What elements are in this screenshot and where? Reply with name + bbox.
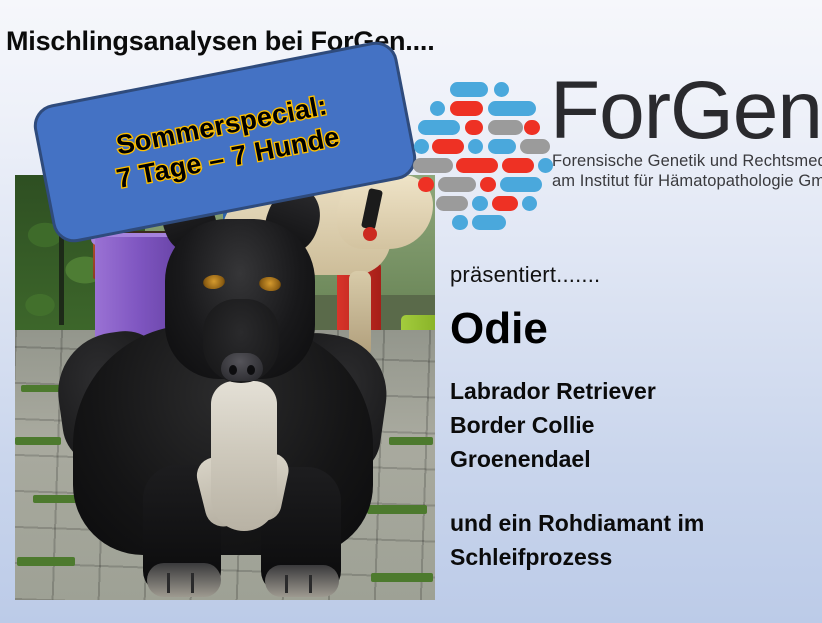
photo-grass [371, 573, 433, 582]
logo-pill-red [465, 120, 483, 135]
tagline-line-1: und ein Rohdiamant im [450, 506, 822, 540]
photo-background-dog-tag [363, 227, 377, 241]
photo-dog-nostril [229, 365, 237, 375]
photo-grass [367, 505, 427, 514]
logo-pill-blue [414, 139, 429, 154]
logo-pill-blue [500, 177, 542, 192]
logo-pill-red [450, 101, 483, 116]
logo-pill-red [480, 177, 496, 192]
logo-pill-blue [488, 101, 536, 116]
logo-pill-red [502, 158, 534, 173]
dog-name-heading: Odie [450, 306, 822, 352]
photo-dog-paw [147, 563, 221, 597]
logo-subtitle-line-1: Forensische Genetik und Rechtsmedizin [552, 152, 822, 171]
photo-dog-nostril [247, 365, 255, 375]
forgen-wordmark: ForGen [550, 70, 822, 152]
logo-pill-blue [522, 196, 537, 211]
photo-dog-chest-blaze [211, 381, 277, 531]
logo-pill-blue [418, 120, 460, 135]
breed-item: Labrador Retriever [450, 374, 822, 408]
breed-list: Labrador Retriever Border Collie Groenen… [450, 374, 822, 476]
logo-pill-blue [472, 196, 488, 211]
tagline-line-2: Schleifprozess [450, 540, 822, 574]
photo-dog-nose [221, 353, 263, 381]
logo-pill-red [418, 177, 434, 192]
photo-grass [389, 437, 433, 445]
logo-pill-red [432, 139, 464, 154]
logo-pill-blue [494, 82, 509, 97]
dna-gel-pattern-icon [410, 80, 542, 206]
logo-pill-blue [452, 215, 468, 230]
photo-grass [17, 557, 75, 566]
logo-pill-blue [430, 101, 445, 116]
logo-pill-red [524, 120, 540, 135]
logo-pill-gray [438, 177, 476, 192]
logo-pill-red [492, 196, 518, 211]
logo-pill-gray [436, 196, 468, 211]
forgen-logo: ForGen Forensische Genetik und Rechtsmed… [410, 80, 822, 206]
photo-dog-toe [191, 573, 194, 593]
photo-dog-toe [309, 575, 312, 593]
tagline: und ein Rohdiamant im Schleifprozess [450, 506, 822, 574]
logo-pill-blue [472, 215, 506, 230]
breed-item: Groenendael [450, 442, 822, 476]
photo-dog-toe [285, 575, 288, 593]
logo-pill-gray [520, 139, 550, 154]
logo-pill-blue [450, 82, 488, 97]
logo-pill-blue [488, 139, 516, 154]
logo-pill-gray [413, 158, 453, 173]
logo-subtitle-line-2: am Institut für Hämatopathologie GmbH [552, 172, 822, 191]
breed-item: Border Collie [450, 408, 822, 442]
logo-pill-red [456, 158, 498, 173]
logo-pill-blue [538, 158, 553, 173]
photo-dog-toe [167, 573, 170, 593]
content-column: präsentiert....... Odie Labrador Retriev… [450, 262, 822, 574]
presents-text: präsentiert....... [450, 262, 822, 288]
photo-grass [15, 437, 61, 445]
logo-pill-gray [488, 120, 523, 135]
logo-pill-blue [468, 139, 483, 154]
photo-dog-paw [265, 565, 339, 597]
